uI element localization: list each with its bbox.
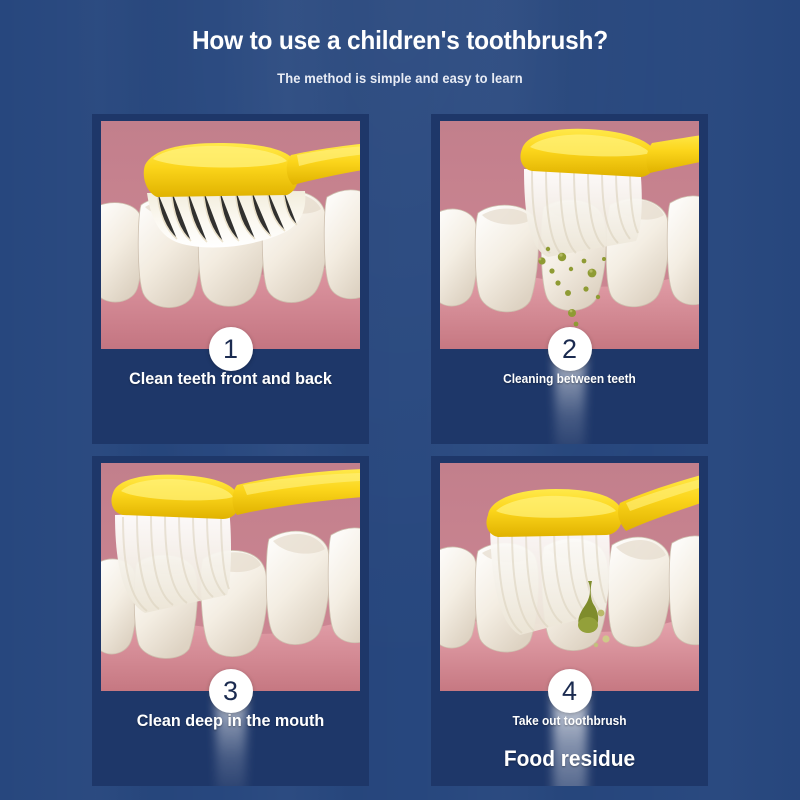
step-card-2[interactable]: 2 Cleaning between teeth bbox=[431, 114, 708, 444]
step-number-badge: 1 bbox=[209, 327, 253, 371]
step-secondary-caption: Food residue bbox=[438, 746, 701, 772]
steps-grid: 1 Clean teeth front and back bbox=[92, 114, 708, 786]
step-card-1[interactable]: 1 Clean teeth front and back bbox=[92, 114, 369, 444]
step-3-illustration bbox=[101, 463, 360, 691]
step-caption: Clean teeth front and back bbox=[99, 369, 362, 389]
page-subtitle: The method is simple and easy to learn bbox=[16, 71, 784, 86]
step-caption: Cleaning between teeth bbox=[438, 372, 701, 386]
infographic-page: How to use a children's toothbrush? The … bbox=[0, 0, 800, 800]
header: How to use a children's toothbrush? The … bbox=[0, 0, 800, 86]
step-caption: Take out toothbrush bbox=[438, 714, 701, 728]
step-number-badge: 3 bbox=[209, 669, 253, 713]
step-2-illustration bbox=[440, 121, 699, 349]
step-caption: Clean deep in the mouth bbox=[99, 711, 362, 731]
step-4-illustration bbox=[440, 463, 699, 691]
step-card-3[interactable]: 3 Clean deep in the mouth bbox=[92, 456, 369, 786]
step-card-4[interactable]: 4 Take out toothbrush Food residue bbox=[431, 456, 708, 786]
step-number-badge: 2 bbox=[548, 327, 592, 371]
page-title: How to use a children's toothbrush? bbox=[24, 26, 776, 55]
step-number-badge: 4 bbox=[548, 669, 592, 713]
step-1-illustration bbox=[101, 121, 360, 349]
